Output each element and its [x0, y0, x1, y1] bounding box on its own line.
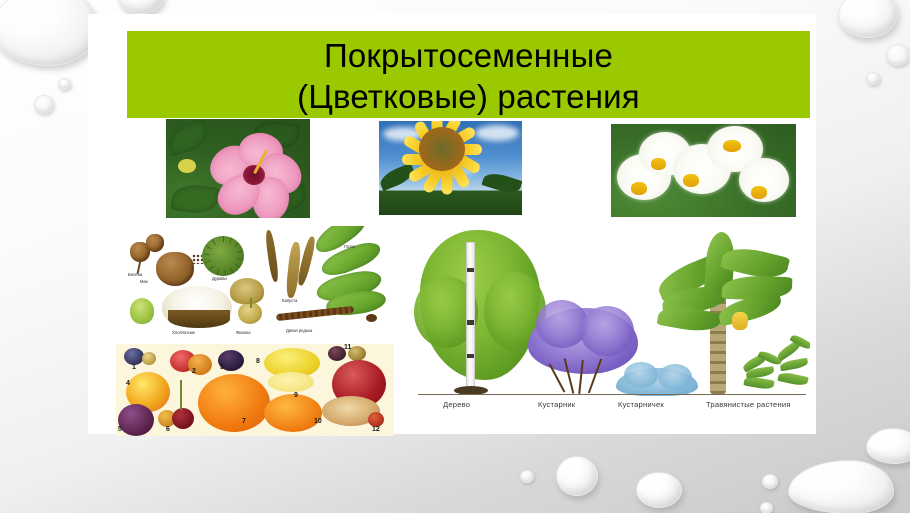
ground-line: [418, 394, 806, 395]
stem: [250, 298, 252, 308]
fruit-tangerine: [264, 394, 322, 432]
flower-center: [243, 165, 265, 185]
dwarf-canopy: [658, 364, 692, 390]
fruit-number: 8: [256, 358, 260, 365]
slide-title: Покрытосеменные (Цветковые) растения: [127, 35, 810, 117]
datura-burr: [202, 236, 244, 276]
seeds-and-fruits-illustration: Белена Мак Дурман Капуста Горох Хлопчатн…: [116, 226, 394, 344]
flower-center: [631, 182, 647, 195]
title-banner: Покрытосеменные (Цветковые) растения: [127, 31, 810, 118]
fruit-number: 10: [314, 418, 322, 425]
henbane-capsule: [146, 234, 164, 252]
shrub-canopy: [580, 306, 634, 356]
plant-life-forms-illustration: Дерево Кустарник Кустарничек Травянистые…: [410, 228, 810, 424]
presentation-slide: Покрытосеменные (Цветковые) растения: [0, 0, 910, 513]
water-droplet: [760, 502, 773, 513]
title-line-1: Покрытосеменные: [127, 35, 810, 76]
wild-radish-pod: [276, 306, 354, 321]
grass-blade: [779, 358, 808, 372]
fruit-number: 7: [242, 418, 246, 425]
flower-disc: [419, 127, 465, 171]
poppy-capsule: [156, 252, 194, 286]
seed: [366, 314, 377, 322]
flower-center: [683, 174, 699, 187]
fruit-number: 2: [192, 368, 196, 375]
flower-center: [751, 186, 767, 199]
fruit-number: 9: [294, 392, 298, 399]
water-droplet: [58, 78, 71, 90]
fruit-orange: [198, 374, 270, 432]
water-droplet: [636, 472, 682, 508]
grass-blade: [743, 375, 774, 390]
sunflower-photo: [379, 121, 522, 215]
hibiscus-bloom: [215, 141, 295, 209]
hibiscus-photo: [166, 119, 310, 218]
fruit-number: 4: [126, 380, 130, 387]
water-droplet: [0, 0, 98, 66]
fruits-illustration: 1 2 3 4 5 6 7 8 9 10 11 12: [116, 344, 394, 436]
fruit-cherry: [172, 408, 194, 429]
water-droplet: [556, 456, 598, 496]
grass-blade: [777, 371, 808, 387]
cotton-boll-shell: [168, 310, 230, 328]
seed-label: Дикая редька: [286, 328, 312, 333]
water-droplet: [788, 460, 894, 513]
habit-label-tree: Дерево: [443, 400, 470, 409]
cherry-stem: [180, 380, 182, 410]
water-droplet: [866, 72, 880, 85]
flower-bud: [178, 159, 196, 173]
seed-label: Фиалка: [236, 330, 251, 335]
fruit-plum: [118, 404, 154, 436]
green-capsule: [130, 298, 154, 324]
fruit-sloe: [124, 348, 144, 365]
seed-label: Дурман: [212, 276, 227, 281]
habit-label-herbaceous: Травянистые растения: [706, 400, 791, 409]
fruit-number: 12: [372, 426, 380, 433]
trunk-mark: [467, 354, 474, 358]
fruit-number: 1: [132, 364, 136, 371]
potato-flowers-photo: [611, 124, 796, 217]
trunk-mark: [467, 320, 474, 325]
seed-label: Белена: [128, 272, 142, 277]
title-line-2: (Цветковые) растения: [127, 76, 810, 117]
habit-label-shrub: Кустарник: [538, 400, 575, 409]
water-droplet: [866, 428, 910, 464]
seed-label: Горох: [344, 244, 355, 249]
water-droplet: [838, 0, 898, 38]
seed-label: Капуста: [282, 298, 297, 303]
tree-trunk: [466, 242, 475, 394]
cloud: [475, 125, 519, 141]
seed-label: Хлопчатник: [172, 330, 195, 335]
fruit-sloe-half: [142, 352, 156, 365]
violet-capsule-open: [230, 278, 264, 304]
cabbage-pod: [264, 230, 279, 283]
fruit-lemon-slice: [268, 372, 314, 392]
habit-label-dwarf-shrub: Кустарничек: [618, 400, 664, 409]
trunk-mark: [467, 268, 474, 272]
flower-center: [723, 140, 741, 152]
water-droplet: [762, 474, 778, 489]
fruit-number: 3: [220, 364, 224, 371]
fruit-number: 6: [166, 426, 170, 433]
flower-center: [651, 158, 666, 170]
water-droplet: [118, 0, 164, 14]
fruit-number: 11: [344, 344, 351, 351]
water-droplet: [886, 44, 910, 66]
water-droplet: [520, 470, 534, 483]
seed-label: Мак: [140, 279, 148, 284]
dwarf-canopy: [624, 362, 658, 388]
fruit-rosehip: [368, 412, 384, 427]
fruit-number: 5: [118, 426, 122, 433]
water-droplet: [34, 95, 54, 114]
banana-bunch: [732, 312, 748, 330]
